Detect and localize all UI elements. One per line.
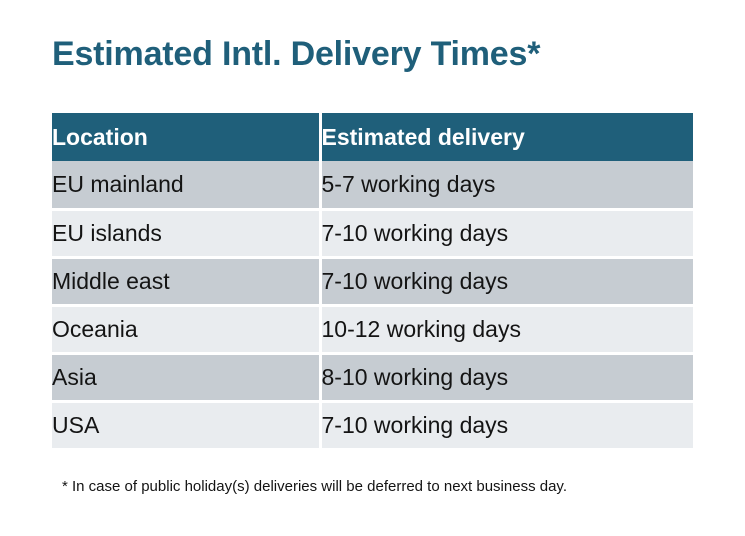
cell-delivery: 7-10 working days (320, 209, 693, 257)
column-header-estimated-delivery: Estimated delivery (320, 113, 693, 161)
table-header: Location Estimated delivery (52, 113, 693, 161)
cell-delivery: 7-10 working days (320, 401, 693, 449)
cell-location: Asia (52, 353, 320, 401)
table-body: EU mainland 5-7 working days EU islands … (52, 161, 693, 449)
footnote: * In case of public holiday(s) deliverie… (62, 478, 567, 495)
table-row: Oceania 10-12 working days (52, 305, 693, 353)
page-title: Estimated Intl. Delivery Times* (52, 35, 540, 74)
table-row: USA 7-10 working days (52, 401, 693, 449)
table-row: EU islands 7-10 working days (52, 209, 693, 257)
delivery-times-card: Estimated Intl. Delivery Times* Location… (0, 0, 745, 536)
table-row: Middle east 7-10 working days (52, 257, 693, 305)
cell-location: EU mainland (52, 161, 320, 209)
cell-location: Middle east (52, 257, 320, 305)
table-row: Asia 8-10 working days (52, 353, 693, 401)
cell-location: Oceania (52, 305, 320, 353)
cell-location: EU islands (52, 209, 320, 257)
column-header-location: Location (52, 113, 320, 161)
table-row: EU mainland 5-7 working days (52, 161, 693, 209)
cell-delivery: 8-10 working days (320, 353, 693, 401)
table-header-row: Location Estimated delivery (52, 113, 693, 161)
cell-delivery: 10-12 working days (320, 305, 693, 353)
cell-location: USA (52, 401, 320, 449)
cell-delivery: 5-7 working days (320, 161, 693, 209)
cell-delivery: 7-10 working days (320, 257, 693, 305)
delivery-times-table: Location Estimated delivery EU mainland … (52, 113, 693, 451)
